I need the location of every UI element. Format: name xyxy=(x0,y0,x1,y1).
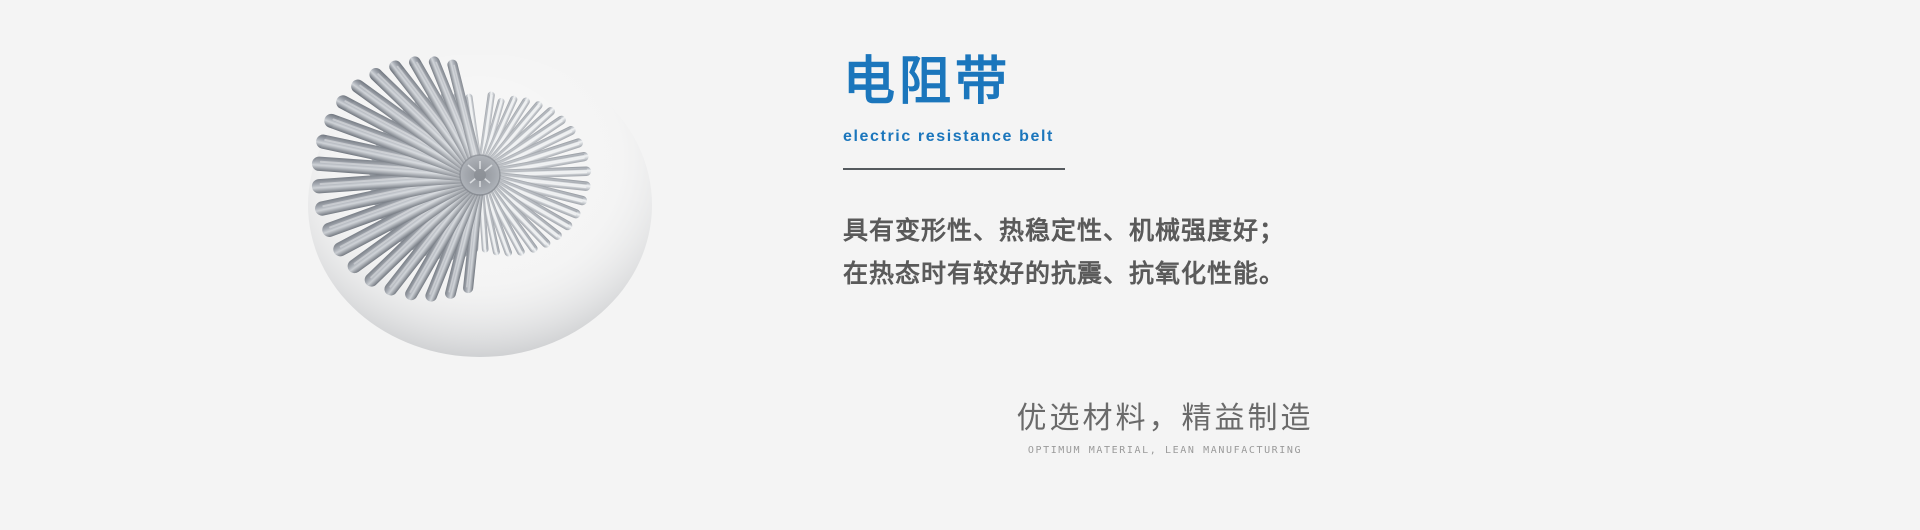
product-banner: 电阻带 electric resistance belt 具有变形性、热稳定性、… xyxy=(0,0,1920,530)
slogan-english: OPTIMUM MATERIAL, LEAN MANUFACTURING xyxy=(955,444,1375,458)
page-title: 电阻带 xyxy=(843,52,1463,112)
resistance-belt-coil-illustration xyxy=(300,55,660,365)
product-description: 具有变形性、热稳定性、机械强度好； 在热态时有较好的抗震、抗氧化性能。 xyxy=(843,210,1463,296)
banner-content: 电阻带 electric resistance belt 具有变形性、热稳定性、… xyxy=(843,52,1463,296)
page-subtitle: electric resistance belt xyxy=(843,126,1463,148)
title-divider xyxy=(843,168,1065,170)
description-line-2: 在热态时有较好的抗震、抗氧化性能。 xyxy=(843,253,1463,296)
slogan-chinese: 优选材料，精益制造 xyxy=(955,400,1375,438)
description-line-1: 具有变形性、热稳定性、机械强度好； xyxy=(843,210,1463,253)
product-image xyxy=(300,55,660,365)
slogan-block: 优选材料，精益制造 OPTIMUM MATERIAL, LEAN MANUFAC… xyxy=(955,400,1375,458)
